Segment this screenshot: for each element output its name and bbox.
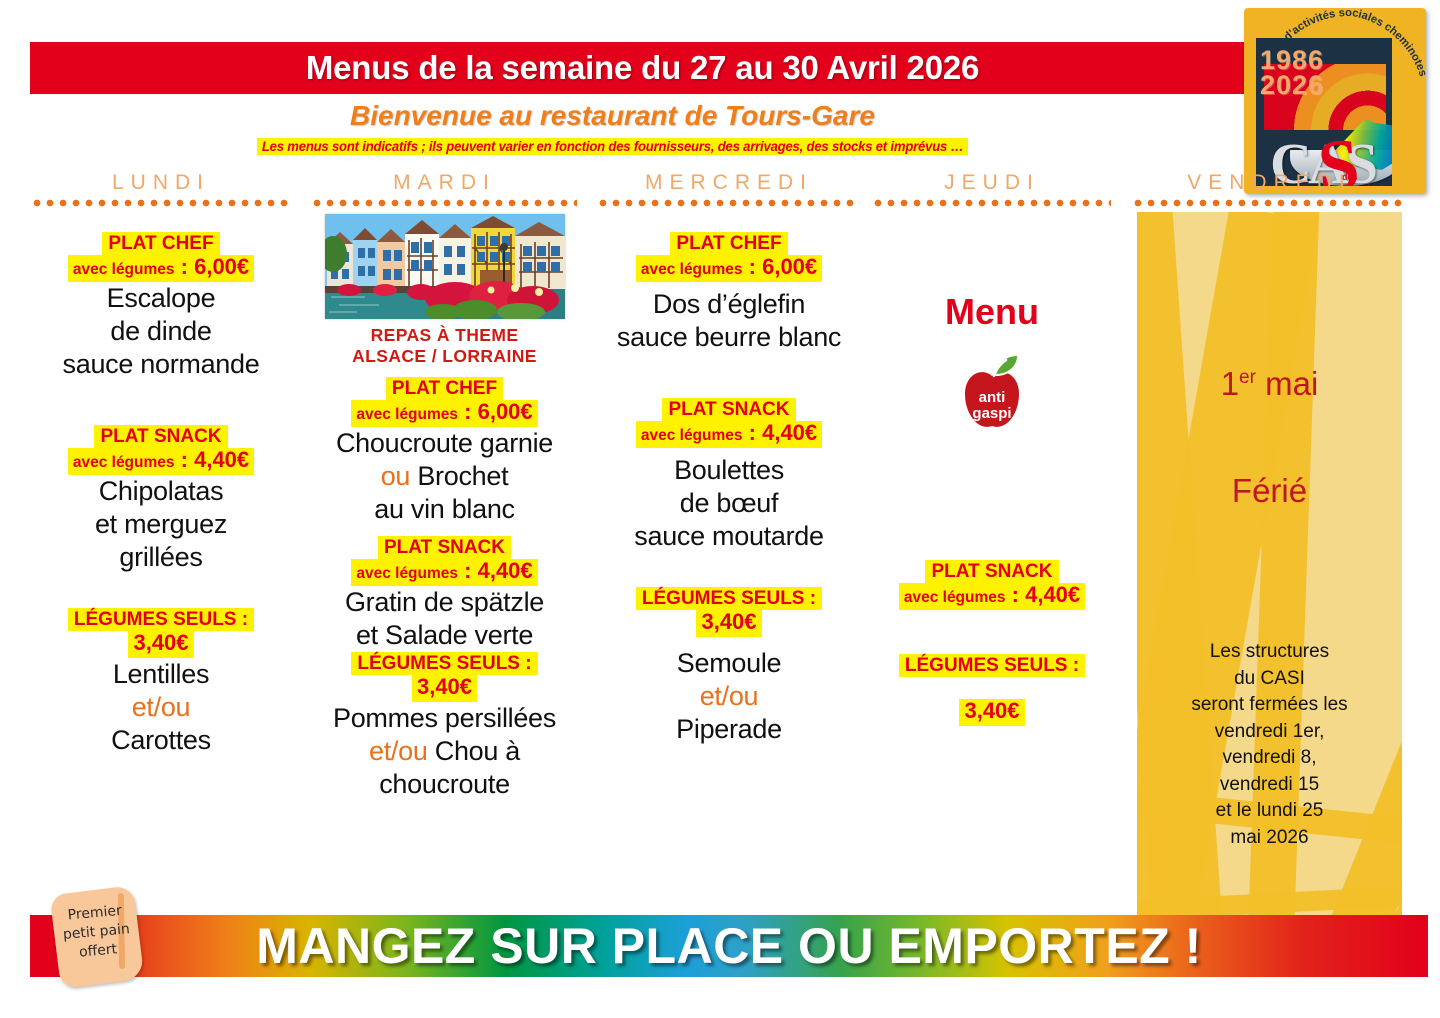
legumes-price-row: 3,40€ (32, 631, 290, 658)
etou-connector: et/ou (598, 680, 860, 713)
day-column-vendredi: VENDREDI 1er mai Férié Les structures du… (1133, 172, 1406, 926)
dish-line: Pommes persillées (312, 702, 577, 735)
closure-note-line: mai 2026 (1137, 825, 1402, 852)
dotted-divider (1133, 198, 1406, 208)
chef-tag-row: PLAT CHEF (598, 232, 860, 255)
holiday-date-suffix: er (1239, 367, 1256, 388)
dish-line: Chipolatas (32, 475, 290, 508)
casi-logo: 40 ans d'activités sociales cheminotes C… (1244, 8, 1426, 194)
snack-tag-row: PLAT SNACK (32, 425, 290, 448)
closure-note-line: vendredi 1er, (1137, 719, 1402, 746)
day-header-mardi: MARDI (312, 172, 577, 194)
legumes-seuls-tag: LÉGUMES SEULS : (68, 608, 254, 631)
etou-connector: et/ou (369, 736, 428, 766)
anti-gaspi-svg: anti gaspi (950, 350, 1034, 440)
dish-line-rest: Brochet (410, 461, 508, 491)
dish-line: Choucroute garnie (312, 427, 577, 460)
disclaimer-text: Les menus sont indicatifs ; ils peuvent … (257, 138, 968, 155)
menu-poster: Menus de la semaine du 27 au 30 Avril 20… (0, 0, 1440, 1018)
dish-line: et Salade verte (312, 619, 577, 652)
holiday-date-month: mai (1256, 365, 1318, 402)
dish-line: au vin blanc (312, 493, 577, 526)
plat-snack-price: avec légumes : 4,40€ (68, 448, 254, 475)
free-bread-badge-text: Premier petit pain offert (52, 900, 141, 964)
day-body-mardi: REPAS À THEME ALSACE / LORRAINE PLAT CHE… (312, 214, 577, 801)
logo-anniversary-years: 1986 2026 (1260, 48, 1324, 98)
plat-snack-price: avec légumes : 4,40€ (899, 583, 1085, 610)
anti-gaspi-line1: anti (979, 389, 1006, 406)
plat-chef-tag: PLAT CHEF (386, 377, 503, 400)
plat-snack-tag: PLAT SNACK (925, 560, 1058, 583)
plat-snack-tag: PLAT SNACK (378, 536, 511, 559)
logo-year-to: 2026 (1260, 73, 1324, 98)
anti-gaspi-icon: anti gaspi (950, 350, 1034, 440)
plat-chef-price: avec légumes : 6,00€ (636, 255, 822, 282)
closure-note: Les structures du CASI seront fermées le… (1137, 511, 1402, 851)
day-header-lundi: LUNDI (32, 172, 290, 194)
day-header-mercredi: MERCREDI (598, 172, 860, 194)
ou-connector: ou (381, 461, 410, 491)
free-bread-badge: Premier petit pain offert (50, 885, 145, 989)
dish-line: Lentilles (32, 658, 290, 691)
menu-word: Menu (873, 292, 1111, 332)
anti-gaspi-line2: gaspi (972, 405, 1011, 422)
dotted-divider (32, 198, 290, 208)
day-column-lundi: LUNDI PLAT CHEF avec légumes : 6,00€ Esc… (32, 172, 290, 757)
day-header-vendredi: VENDREDI (1133, 172, 1406, 194)
dish-line: grillées (32, 541, 290, 574)
plat-chef-price: avec légumes : 6,00€ (68, 255, 254, 282)
dish-line: de bœuf (598, 487, 860, 520)
snack-price-row: avec légumes : 4,40€ (312, 559, 577, 586)
closure-note-line: seront fermées les (1137, 692, 1402, 719)
snack-price-row: avec légumes : 4,40€ (873, 583, 1111, 610)
disclaimer-row: Les menus sont indicatifs ; ils peuvent … (0, 138, 1225, 156)
dotted-divider (312, 198, 577, 208)
dish-line: choucroute (312, 768, 577, 801)
snack-price-row: avec légumes : 4,40€ (598, 421, 860, 448)
chef-price-row: avec légumes : 6,00€ (32, 255, 290, 282)
alsace-theme-photo (325, 214, 565, 319)
days-grid: LUNDI PLAT CHEF avec légumes : 6,00€ Esc… (0, 172, 1440, 902)
legumes-seuls-price: 3,40€ (696, 610, 761, 637)
logo-badge-background: 40 ans d'activités sociales cheminotes C… (1244, 8, 1426, 194)
theme-label-line2: ALSACE / LORRAINE (312, 346, 577, 367)
dish-line: sauce beurre blanc (598, 321, 860, 354)
legumes-price-row: 3,40€ (873, 699, 1111, 726)
day-header-jeudi: JEUDI (873, 172, 1111, 194)
dish-line: Piperade (598, 713, 860, 746)
day-column-jeudi: JEUDI Menu anti gaspi (873, 172, 1111, 726)
legumes-price-row: 3,40€ (312, 675, 577, 702)
dish-line: Gratin de spätzle (312, 586, 577, 619)
footer-banner-text: MANGEZ SUR PLACE OU EMPORTEZ ! (256, 917, 1202, 975)
dotted-divider (598, 198, 860, 208)
legumes-seuls-price: 3,40€ (412, 675, 477, 702)
legumes-seuls-tag: LÉGUMES SEULS : (899, 654, 1085, 677)
closure-note-line: Les structures (1137, 639, 1402, 666)
day-body-jeudi: Menu anti gaspi PLAT SNACK (873, 214, 1111, 726)
closure-note-line: vendredi 8, (1137, 745, 1402, 772)
legumes-tag-row: LÉGUMES SEULS : (598, 587, 860, 610)
dish-line-rest: Chou à (428, 736, 520, 766)
plat-chef-tag: PLAT CHEF (102, 232, 219, 255)
dotted-divider (873, 198, 1111, 208)
legumes-price-row: 3,40€ (598, 610, 860, 637)
chef-tag-row: PLAT CHEF (312, 377, 577, 400)
day-column-mardi: MARDI (312, 172, 577, 801)
dish-line: Semoule (598, 647, 860, 680)
dish-line: et merguez (32, 508, 290, 541)
closure-note-line: et le lundi 25 (1137, 798, 1402, 825)
alsace-photo-svg (325, 214, 565, 319)
dish-line: de dinde (32, 315, 290, 348)
dish-line: Dos d’églefin (598, 288, 860, 321)
plat-snack-price: avec légumes : 4,40€ (351, 559, 537, 586)
holiday-date-number: 1 (1221, 365, 1239, 402)
vendredi-holiday-panel: 1er mai Férié Les structures du CASI ser… (1137, 212, 1402, 926)
welcome-subtitle: Bienvenue au restaurant de Tours-Gare (0, 100, 1225, 132)
dish-line: sauce normande (32, 348, 290, 381)
dish-line: Carottes (32, 724, 290, 757)
plat-chef-tag: PLAT CHEF (670, 232, 787, 255)
holiday-date: 1er mai (1137, 212, 1402, 404)
chef-price-row: avec légumes : 6,00€ (598, 255, 860, 282)
dish-line-with-etou: et/ou Chou à (312, 735, 577, 768)
legumes-seuls-tag: LÉGUMES SEULS : (636, 587, 822, 610)
plat-snack-price: avec légumes : 4,40€ (636, 421, 822, 448)
theme-label-line1: REPAS À THEME (312, 325, 577, 346)
closure-note-line: vendredi 15 (1137, 772, 1402, 799)
holiday-label: Férié (1137, 404, 1402, 511)
dish-line: sauce moutarde (598, 520, 860, 553)
day-body-lundi: PLAT CHEF avec légumes : 6,00€ Escalope … (32, 214, 290, 757)
dish-line-with-ou: ou Brochet (312, 460, 577, 493)
snack-tag-row: PLAT SNACK (598, 398, 860, 421)
footer-banner: MANGEZ SUR PLACE OU EMPORTEZ ! (30, 915, 1428, 977)
page-title: Menus de la semaine du 27 au 30 Avril 20… (306, 49, 979, 87)
legumes-tag-row: LÉGUMES SEULS : (312, 652, 577, 675)
chef-tag-row: PLAT CHEF (32, 232, 290, 255)
plat-snack-tag: PLAT SNACK (94, 425, 227, 448)
dish-line: Boulettes (598, 454, 860, 487)
snack-tag-row: PLAT SNACK (873, 560, 1111, 583)
legumes-tag-row: LÉGUMES SEULS : (873, 654, 1111, 677)
snack-tag-row: PLAT SNACK (312, 536, 577, 559)
day-column-mercredi: MERCREDI PLAT CHEF avec légumes : 6,00€ … (598, 172, 860, 746)
legumes-seuls-price: 3,40€ (959, 699, 1024, 726)
dish-line: Escalope (32, 282, 290, 315)
plat-chef-price: avec légumes : 6,00€ (351, 400, 537, 427)
closure-note-line: du CASI (1137, 666, 1402, 693)
title-band: Menus de la semaine du 27 au 30 Avril 20… (30, 42, 1255, 94)
snack-price-row: avec légumes : 4,40€ (32, 448, 290, 475)
etou-connector: et/ou (32, 691, 290, 724)
legumes-seuls-price: 3,40€ (128, 631, 193, 658)
day-body-mercredi: PLAT CHEF avec légumes : 6,00€ Dos d’égl… (598, 214, 860, 746)
legumes-tag-row: LÉGUMES SEULS : (32, 608, 290, 631)
legumes-seuls-tag: LÉGUMES SEULS : (351, 652, 537, 675)
chef-price-row: avec légumes : 6,00€ (312, 400, 577, 427)
plat-snack-tag: PLAT SNACK (662, 398, 795, 421)
